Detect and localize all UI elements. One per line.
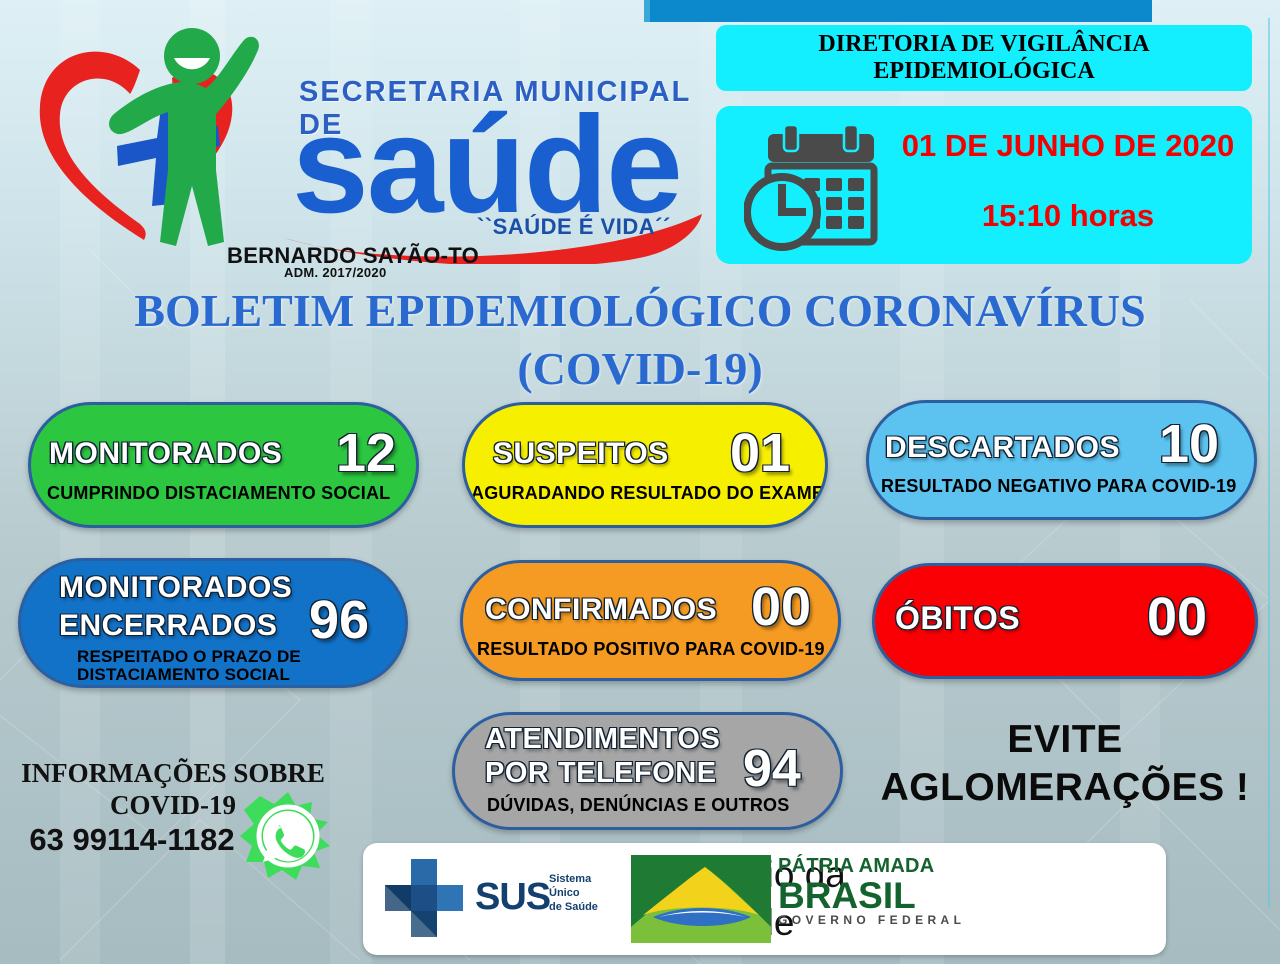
top-blue-bar (650, 0, 1152, 22)
logo-motto: ``SAÚDE É VIDA´´ (477, 214, 671, 240)
stat-value: 94 (743, 739, 801, 799)
department-title-line2: EPIDEMIOLÓGICA (818, 58, 1149, 85)
whatsapp-glyph-icon (238, 790, 334, 880)
stat-label: MONITORADOS (49, 437, 282, 471)
infographic-canvas: SECRETARIA MUNICIPAL DE saúde ``SAÚDE É … (0, 0, 1280, 964)
contact-phone[interactable]: 63 99114-1182 (18, 822, 246, 858)
stat-label: SUSPEITOS (493, 437, 669, 471)
patria-line3: GOVERNO FEDERAL (778, 913, 965, 927)
stat-card-monitorados: MONITORADOS 12 CUMPRINDO DISTACIAMENTO S… (28, 402, 419, 528)
patria-amada-brasil-label: PÁTRIA AMADA BRASIL GOVERNO FEDERAL (778, 855, 965, 927)
stat-label-line1: MONITORADOS (59, 571, 292, 605)
department-box: DIRETORIA DE VIGILÂNCIA EPIDEMIOLÓGICA (716, 25, 1252, 91)
page-title-line1: BOLETIM EPIDEMIOLÓGICO CORONAVÍRUS (0, 282, 1280, 340)
stat-label-line1: ATENDIMENTOS (485, 723, 720, 756)
sus-cross-icon (375, 849, 475, 949)
bulletin-date: 01 DE JUNHO DE 2020 (894, 128, 1242, 164)
stat-value: 00 (751, 576, 811, 638)
stat-sublabel: CUMPRINDO DISTACIAMENTO SOCIAL (47, 483, 390, 503)
stat-card-obitos: ÓBITOS 00 (872, 563, 1258, 679)
department-title-line1: DIRETORIA DE VIGILÂNCIA (818, 31, 1149, 58)
avoid-crowds-warning: EVITE AGLOMERAÇÕES ! (855, 716, 1275, 813)
date-time-box: 01 DE JUNHO DE 2020 15:10 horas (716, 106, 1252, 264)
stat-card-confirmados: CONFIRMADOS 00 RESULTADO POSITIVO PARA C… (460, 560, 841, 681)
stat-value: 00 (1147, 586, 1207, 648)
stat-sublabel: AGURADANDO RESULTADO DO EXAME (471, 483, 824, 503)
secretaria-logo: SECRETARIA MUNICIPAL DE saúde ``SAÚDE É … (22, 18, 712, 268)
logo-administration: ADM. 2017/2020 (284, 265, 386, 280)
stat-label-line2: POR TELEFONE (485, 757, 717, 790)
sus-subtitle-line3: de Saúde (549, 901, 598, 915)
page-title-line2: (COVID-19) (0, 340, 1280, 398)
sus-wordmark: SUS (475, 876, 550, 919)
stat-sublabel: DÚVIDAS, DENÚNCIAS E OUTROS (487, 795, 789, 815)
stat-value: 01 (730, 422, 790, 484)
stat-label-line2: ENCERRADOS (59, 609, 277, 643)
calendar-clock-icon (744, 122, 884, 252)
patria-line2: BRASIL (778, 878, 965, 913)
avoid-crowds-line2: AGLOMERAÇÕES ! (855, 764, 1275, 812)
bulletin-time: 15:10 horas (894, 198, 1242, 234)
stat-label: DESCARTADOS (885, 431, 1120, 465)
sus-subtitle-line1: Sistema (549, 873, 598, 887)
sus-subtitle-line2: Único (549, 887, 598, 901)
stat-card-suspeitos: SUSPEITOS 01 AGURADANDO RESULTADO DO EXA… (462, 402, 828, 528)
sus-subtitle: Sistema Único de Saúde (549, 873, 598, 914)
department-title: DIRETORIA DE VIGILÂNCIA EPIDEMIOLÓGICA (818, 31, 1149, 85)
footer-logos-bar: SUS Sistema Único de Saúde Ministério da… (363, 843, 1166, 955)
stat-value: 12 (336, 422, 396, 484)
stat-label: ÓBITOS (895, 600, 1020, 637)
whatsapp-icon[interactable] (238, 790, 334, 880)
stat-value: 10 (1159, 413, 1219, 475)
stat-label: CONFIRMADOS (485, 593, 717, 627)
stat-card-descartados: DESCARTADOS 10 RESULTADO NEGATIVO PARA C… (866, 400, 1257, 520)
covid-info-line1: INFORMAÇÕES SOBRE (18, 757, 328, 789)
stat-card-monitorados-encerrados: MONITORADOS ENCERRADOS 96 RESPEITADO O P… (18, 558, 408, 688)
stat-sublabel: RESULTADO NEGATIVO PARA COVID-19 (881, 476, 1236, 496)
logo-mark-icon (22, 18, 292, 268)
avoid-crowds-line1: EVITE (855, 716, 1275, 764)
page-title: BOLETIM EPIDEMIOLÓGICO CORONAVÍRUS (COVI… (0, 282, 1280, 398)
brasil-flag-mark-icon (631, 855, 771, 943)
stat-card-atendimentos-por-telefone: ATENDIMENTOS POR TELEFONE 94 DÚVIDAS, DE… (452, 712, 843, 830)
stat-sublabel: RESULTADO POSITIVO PARA COVID-19 (477, 639, 825, 659)
stat-sublabel-line2: DISTACIAMENTO SOCIAL (77, 665, 290, 684)
stat-sublabel-line1: RESPEITADO O PRAZO DE (77, 647, 301, 666)
stat-value: 96 (309, 589, 369, 651)
